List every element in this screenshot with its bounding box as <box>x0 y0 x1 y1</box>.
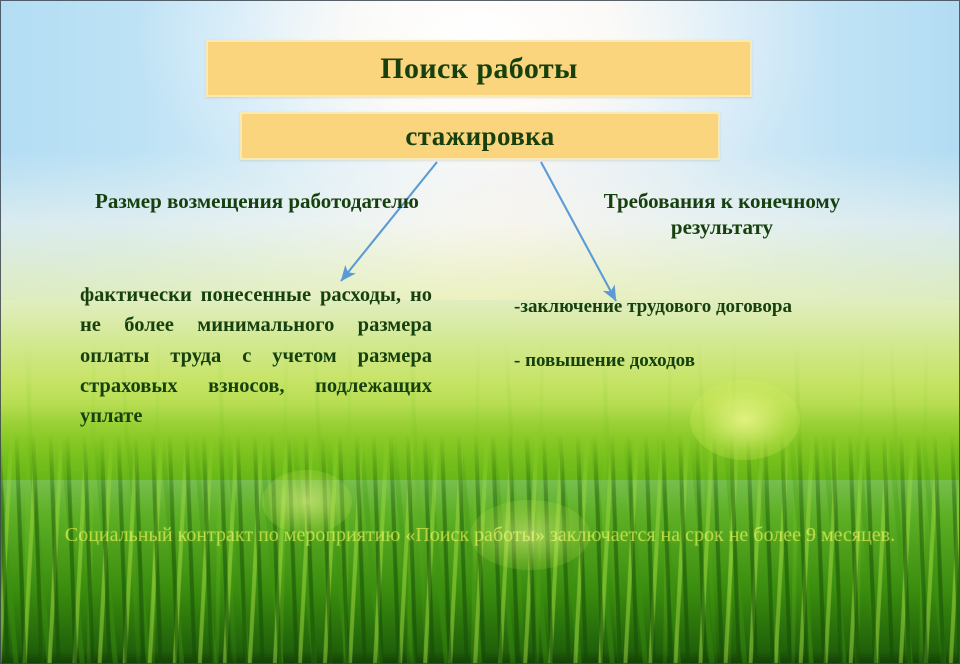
footer-note: Социальный контракт по мероприятию «Поис… <box>60 521 900 550</box>
right-column-body: -заключение трудового договора - повышен… <box>514 296 914 372</box>
subtitle-banner-label: стажировка <box>405 121 554 152</box>
right-column-item: - повышение доходов <box>514 350 914 372</box>
left-column-body: фактически понесенные расходы, но не бол… <box>80 280 432 432</box>
right-column-heading: Требования к конечному результату <box>552 188 892 241</box>
slide-canvas: Поиск работы стажировка Размер возмещени… <box>0 0 960 664</box>
left-column-heading: Размер возмещения работодателю <box>92 188 422 214</box>
title-banner: Поиск работы <box>206 40 752 97</box>
right-column-item: -заключение трудового договора <box>514 296 914 318</box>
subtitle-banner: стажировка <box>240 112 720 160</box>
title-banner-label: Поиск работы <box>380 52 578 86</box>
